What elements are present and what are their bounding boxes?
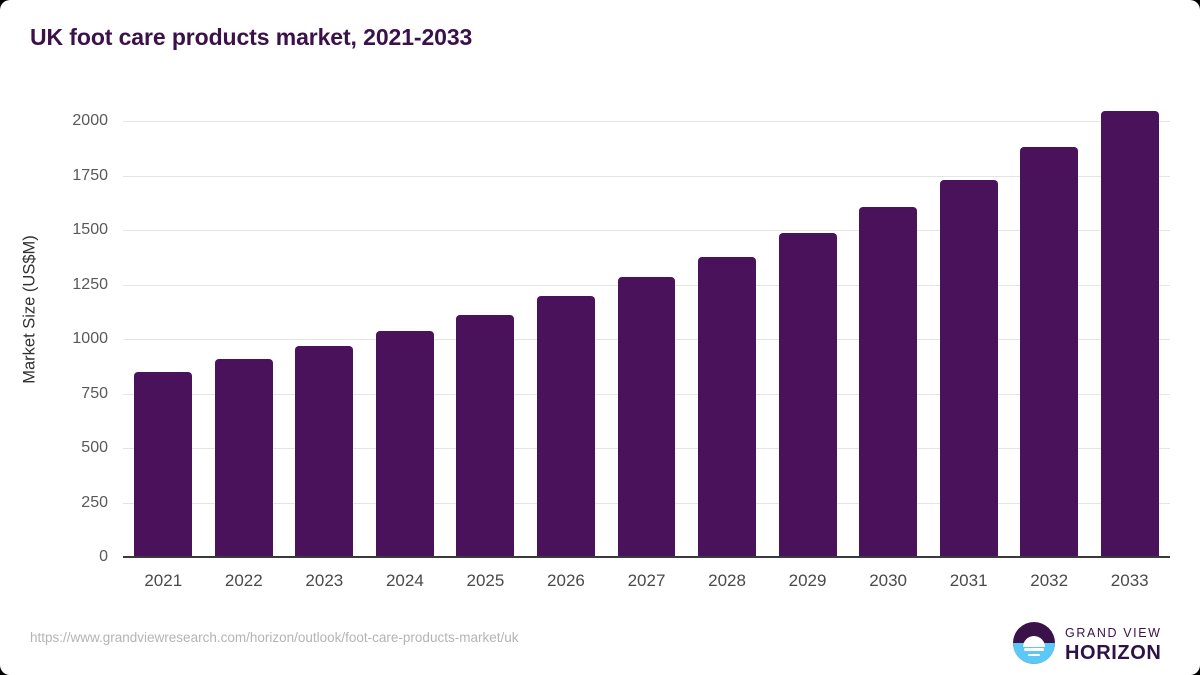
- x-tick-label: 2030: [869, 571, 907, 591]
- chart-page: UK foot care products market, 2021-2033 …: [0, 0, 1200, 675]
- x-tick-label: 2023: [305, 571, 343, 591]
- source-url[interactable]: https://www.grandviewresearch.com/horizo…: [30, 630, 518, 645]
- x-tick-label: 2033: [1111, 571, 1149, 591]
- x-tick-label: 2022: [225, 571, 263, 591]
- x-tick-label: 2029: [789, 571, 827, 591]
- bar[interactable]: [940, 180, 998, 557]
- bar[interactable]: [376, 331, 434, 557]
- bar[interactable]: [295, 346, 353, 557]
- x-tick-label: 2028: [708, 571, 746, 591]
- y-axis-tick-labels: 025050075010001250150017502000: [0, 0, 110, 675]
- y-tick-label: 250: [0, 494, 108, 512]
- bar[interactable]: [859, 207, 917, 557]
- bar[interactable]: [698, 257, 756, 557]
- logo-sun-dome: [1023, 636, 1045, 647]
- logo-line-lower: [1028, 654, 1040, 657]
- x-axis-line: [123, 556, 1170, 558]
- y-tick-label: 1500: [0, 221, 108, 239]
- bar[interactable]: [779, 233, 837, 557]
- gridline: [123, 121, 1170, 122]
- y-tick-label: 2000: [0, 112, 108, 130]
- y-tick-label: 0: [0, 548, 108, 566]
- x-tick-label: 2021: [144, 571, 182, 591]
- logo-line-upper: [1024, 648, 1044, 651]
- bar[interactable]: [134, 372, 192, 557]
- y-tick-label: 1750: [0, 167, 108, 185]
- y-tick-label: 500: [0, 439, 108, 457]
- x-tick-label: 2024: [386, 571, 424, 591]
- bar[interactable]: [456, 315, 514, 557]
- y-tick-label: 1250: [0, 276, 108, 294]
- brand-name-secondary: HORIZON: [1065, 642, 1161, 665]
- x-tick-label: 2026: [547, 571, 585, 591]
- bar[interactable]: [1020, 147, 1078, 557]
- sunrise-circle-icon: [1013, 622, 1055, 664]
- bar[interactable]: [215, 359, 273, 557]
- gridline: [123, 176, 1170, 177]
- bar[interactable]: [618, 277, 676, 557]
- bar[interactable]: [537, 296, 595, 557]
- brand-name-primary: GRAND VIEW: [1065, 626, 1162, 640]
- x-tick-label: 2027: [628, 571, 666, 591]
- bar[interactable]: [1101, 111, 1159, 557]
- plot-area: [123, 121, 1170, 557]
- brand-logo[interactable]: GRAND VIEW HORIZON: [1013, 620, 1173, 666]
- gridline: [123, 230, 1170, 231]
- x-tick-label: 2032: [1030, 571, 1068, 591]
- x-tick-label: 2031: [950, 571, 988, 591]
- y-tick-label: 1000: [0, 330, 108, 348]
- x-tick-label: 2025: [467, 571, 505, 591]
- y-tick-label: 750: [0, 385, 108, 403]
